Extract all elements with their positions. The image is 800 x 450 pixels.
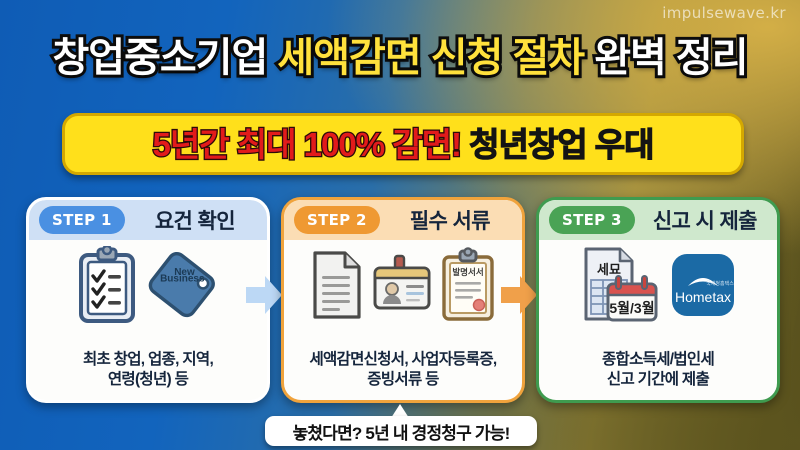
certificate-clipboard-icon: 발명서서 <box>441 247 495 323</box>
step-1-caption-line-2: 연령(청년) 등 <box>29 370 267 391</box>
step-card-1[interactable]: STEP 1 요건 확인 New <box>26 197 270 403</box>
step-2-icon-row: 발명서서 <box>284 240 522 330</box>
step-3-caption-line-1: 종합소득세/법인세 <box>539 350 777 371</box>
step-1-heading: 요건 확인 <box>133 205 257 235</box>
subtitle-banner: 5년간 최대 100% 감면! 청년창업 우대 <box>62 113 744 175</box>
calendar-label: 5월/3월 <box>609 300 654 316</box>
step-2-caption: 세액감면신청서, 사업자등록증, 증빙서류 등 <box>284 350 522 391</box>
step-2-caption-line-2: 증빙서류 등 <box>284 370 522 391</box>
step-3-heading: 신고 시 제출 <box>643 205 767 235</box>
infographic-canvas: impulsewave.kr 창업중소기업 세액감면 신청 절차 완벽 정리 5… <box>0 0 800 450</box>
title-part-2: 세액감면 신청 절차 <box>277 36 584 80</box>
step-1-icon-row: New Business <box>29 240 267 330</box>
tax-form-label: 세묘 <box>597 262 621 277</box>
step-2-badge: STEP 2 <box>294 206 380 234</box>
subtitle-rest: 청년창업 우대 <box>469 126 653 163</box>
hometax-sublabel: 국세청홈택스 <box>706 280 734 287</box>
arrow-step2-to-step3 <box>501 275 537 315</box>
document-icon <box>311 249 363 321</box>
step-1-caption-line-1: 최초 창업, 업종, 지역, <box>29 350 267 371</box>
hometax-app-icon[interactable]: Hometax 국세청홈택스 <box>670 252 736 318</box>
step-card-2[interactable]: STEP 2 필수 서류 <box>281 197 525 403</box>
step-1-header: STEP 1 요건 확인 <box>29 200 267 240</box>
step-3-caption: 종합소득세/법인세 신고 기간에 제출 <box>539 350 777 391</box>
bottom-banner-text: 놓쳤다면? 5년 내 경정청구 가능! <box>293 419 510 444</box>
step-1-caption: 최초 창업, 업종, 지역, 연령(청년) 등 <box>29 350 267 391</box>
bottom-banner: 놓쳤다면? 5년 내 경정청구 가능! <box>265 416 537 446</box>
watermark-label: impulsewave.kr <box>662 4 786 22</box>
page-title: 창업중소기업 세액감면 신청 절차 완벽 정리 <box>0 38 800 78</box>
new-business-tag-icon: New Business <box>148 247 220 323</box>
arrow-step1-to-step2 <box>246 275 282 315</box>
subtitle-highlight: 5년간 최대 100% 감면! <box>153 126 461 163</box>
tax-form-icon: 세묘 5월/3월 <box>580 246 660 324</box>
step-3-icon-row: 세묘 5월/3월 <box>539 240 777 330</box>
title-part-1: 창업중소기업 <box>52 36 267 80</box>
title-part-3: 완벽 정리 <box>594 36 747 80</box>
step-2-header: STEP 2 필수 서류 <box>284 200 522 240</box>
step-card-3[interactable]: STEP 3 신고 시 제출 세묘 <box>536 197 780 403</box>
subtitle-text: 5년간 최대 100% 감면! 청년창업 우대 <box>153 128 654 161</box>
calendar-icon: 5월/3월 <box>608 276 656 320</box>
id-card-icon <box>373 254 431 316</box>
certificate-label: 발명서서 <box>452 267 483 277</box>
step-3-badge: STEP 3 <box>549 206 635 234</box>
tag-text-line-2: Business <box>160 274 205 285</box>
step-1-badge: STEP 1 <box>39 206 125 234</box>
step-3-caption-line-2: 신고 기간에 제출 <box>539 370 777 391</box>
clipboard-checklist-icon <box>76 246 138 324</box>
step-3-header: STEP 3 신고 시 제출 <box>539 200 777 240</box>
hometax-label: Hometax <box>675 289 731 305</box>
step-2-heading: 필수 서류 <box>388 205 512 235</box>
step-2-caption-line-1: 세액감면신청서, 사업자등록증, <box>284 350 522 371</box>
